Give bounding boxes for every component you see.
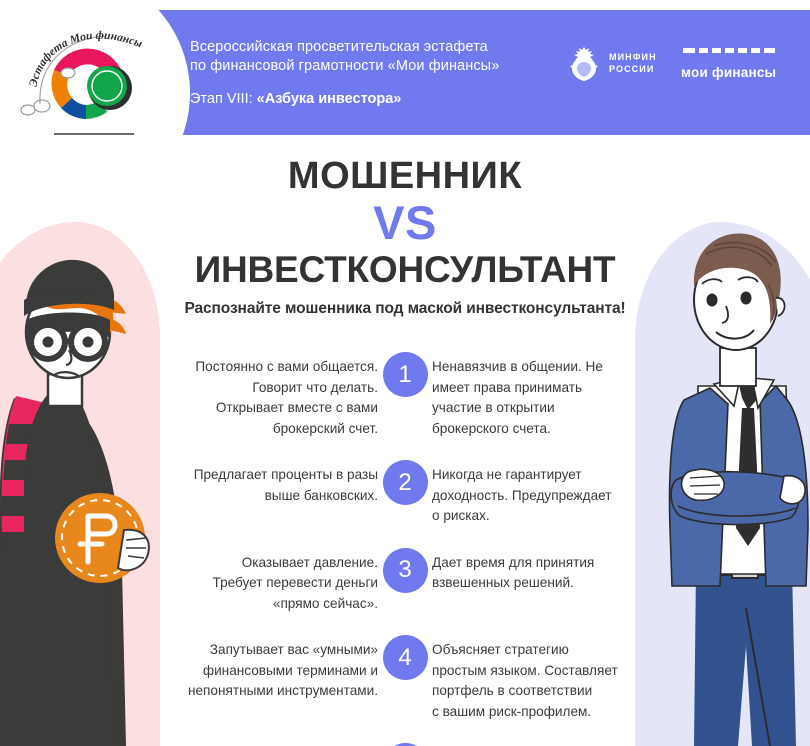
campaign-title: Всероссийская просветительская эстафета … [190, 38, 499, 76]
minfin-line-1: МИНФИН [609, 51, 657, 63]
stage-line: Этап VIII: «Азбука инвестора» [190, 90, 499, 108]
advisor-trait: Дает время для принятия взвешенных решен… [432, 548, 670, 594]
row-number-wrap: 4 [378, 635, 432, 680]
moi-finansy-wordmark: мои финансы [681, 65, 776, 80]
double-headed-eagle-icon [568, 44, 600, 82]
advisor-trait: Никогда не гарантирует доходность. Преду… [432, 460, 670, 527]
stage-name: «Азбука инвестора» [257, 91, 402, 107]
advisor-illustration [654, 228, 810, 746]
row-number-badge: 4 [383, 635, 428, 680]
stage-prefix: Этап VIII: [190, 91, 257, 107]
title-advisor: ИНВЕСТКОНСУЛЬТАНТ [140, 249, 670, 291]
fraudster-trait: Оказывает давление. Требует перевести де… [140, 548, 378, 615]
page-subtitle: Распознайте мошенника под маской инвестк… [140, 300, 670, 318]
row-number-wrap: 2 [378, 460, 432, 505]
advisor-trait: Ненавязчив в общении. Не имеет права при… [432, 352, 670, 439]
row-number-wrap: 1 [378, 352, 432, 397]
row-number-badge: 1 [383, 352, 428, 397]
fraudster-trait: Постоянно с вами общается. Говорит что д… [140, 352, 378, 439]
comparison-row: Оказывает давление. Требует перевести де… [140, 548, 670, 615]
row-number-badge: 2 [383, 460, 428, 505]
comparison-row: Запутывает вас «умными» финансовыми терм… [140, 635, 670, 722]
comparison-table: Постоянно с вами общается. Говорит что д… [140, 352, 670, 746]
title-vs: VS [140, 197, 670, 249]
page-title: МОШЕННИК VS ИНВЕСТКОНСУЛЬТАНТ Распознайт… [140, 155, 670, 318]
fraudster-trait: Запутывает вас «умными» финансовыми терм… [140, 635, 378, 702]
advisor-trait: Объясняет стратегию простым языком. Сост… [432, 635, 670, 722]
fraudster-trait: Предлагает проценты в разы выше банковск… [140, 460, 378, 506]
row-number-badge: 3 [383, 548, 428, 593]
estafeta-moi-finansy-logo: Эстафета Мои финансы [14, 18, 166, 142]
moi-finansy-logo: мои финансы [681, 47, 776, 80]
infographic-page: Эстафета Мои финансы Всероссийская просв… [0, 0, 810, 746]
comparison-row: Постоянно с вами общается. Говорит что д… [140, 352, 670, 439]
header-text-block: Всероссийская просветительская эстафета … [190, 38, 499, 108]
comparison-row: Предлагает проценты в разы выше банковск… [140, 460, 670, 527]
title-fraudster: МОШЕННИК [140, 155, 670, 197]
minfin-wordmark: МИНФИН РОССИИ [609, 51, 657, 75]
dashed-bar-icon [683, 48, 775, 54]
minfin-rossii-logo: МИНФИН РОССИИ [568, 44, 657, 82]
minfin-line-2: РОССИИ [609, 63, 657, 75]
row-number-wrap: 3 [378, 548, 432, 593]
